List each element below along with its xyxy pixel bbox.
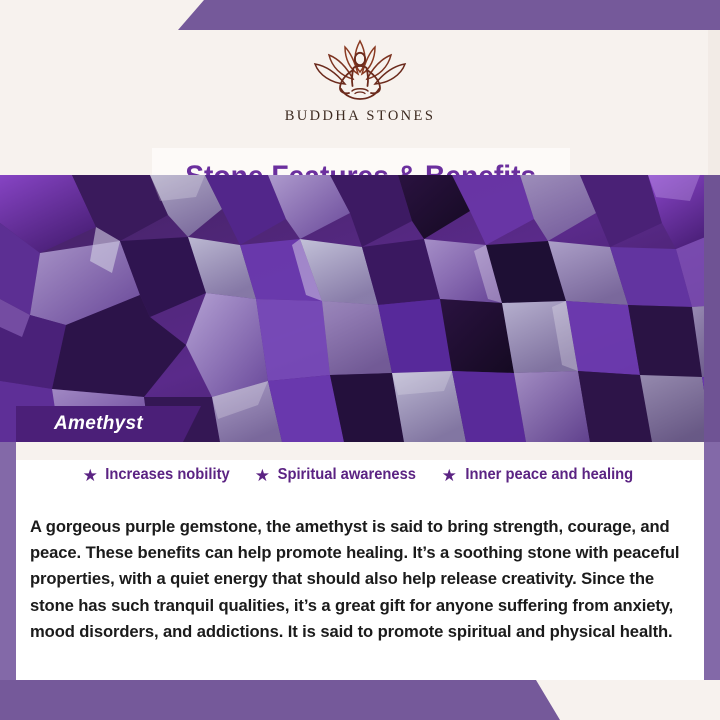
panel-top-tint	[16, 442, 704, 460]
stone-description: A gorgeous purple gemstone, the amethyst…	[30, 514, 690, 646]
stone-name: Amethyst	[54, 413, 143, 435]
brand-name: BUDDHA STONES	[0, 108, 720, 125]
top-decorative-band	[0, 0, 720, 30]
star-icon: ★	[442, 467, 457, 484]
benefits-row: ★ Increases nobility ★ Spiritual awarene…	[16, 466, 704, 484]
benefit-item: ★ Spiritual awareness	[255, 466, 420, 484]
panel-left-rail	[0, 442, 16, 680]
brand-logo: BUDDHA STONES	[0, 34, 720, 125]
amethyst-photo	[0, 175, 720, 442]
photo-right-rail	[704, 175, 720, 442]
benefit-label: Inner peace and healing	[465, 466, 633, 484]
stone-info-poster: BUDDHA STONES Stone Features & Benefits	[0, 0, 720, 720]
benefit-label: Spiritual awareness	[278, 466, 416, 484]
panel-right-rail	[704, 442, 720, 680]
benefit-item: ★ Increases nobility	[83, 466, 233, 484]
bottom-decorative-band	[0, 680, 720, 720]
benefit-item: ★ Inner peace and healing	[442, 466, 638, 484]
star-icon: ★	[255, 467, 270, 484]
stone-details-panel: ★ Increases nobility ★ Spiritual awarene…	[16, 442, 704, 680]
header-right-trim	[708, 30, 720, 175]
amethyst-crystal-cluster-graphic	[0, 175, 720, 442]
stone-name-banner: Amethyst	[16, 406, 201, 442]
star-icon: ★	[83, 467, 98, 484]
poster-header: BUDDHA STONES Stone Features & Benefits	[0, 30, 720, 175]
lotus-meditation-icon	[285, 34, 435, 104]
benefit-label: Increases nobility	[105, 466, 229, 484]
